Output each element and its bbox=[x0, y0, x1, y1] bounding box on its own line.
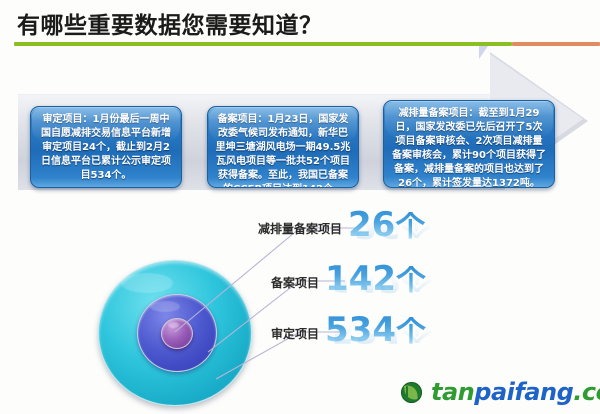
callout-leader-lines bbox=[0, 0, 600, 414]
leaf-circle-icon bbox=[401, 382, 422, 403]
callout-unit-3: 个 bbox=[396, 317, 426, 347]
site-logo[interactable]: tanpaifang.com bbox=[401, 378, 600, 406]
logo-text-tan: tan bbox=[431, 378, 474, 406]
callout-value-1: 26 bbox=[348, 208, 395, 242]
callout-jianpailiang-beian: 减排量备案项目 26 个 26个 bbox=[258, 208, 425, 242]
callout-shending: 审定项目 534 个 534个 bbox=[271, 313, 426, 347]
callout-unit-1: 个 bbox=[395, 212, 425, 242]
logo-wordmark: tanpaifang.com bbox=[431, 378, 600, 406]
logo-text-com: .com bbox=[573, 378, 600, 406]
callout-label-2: 备案项目 bbox=[271, 274, 319, 296]
callout-label-1: 减排量备案项目 bbox=[258, 220, 342, 242]
callout-value-3: 534 bbox=[325, 313, 396, 347]
callout-value-2: 142 bbox=[325, 262, 396, 296]
logo-text-paifang: paifang bbox=[474, 378, 573, 406]
callout-unit-2: 个 bbox=[396, 266, 426, 296]
slide-canvas: 有哪些重要数据您需要知道？ 审定项目：1月份最后一周中国自愿减排交易信息平台新增… bbox=[0, 0, 600, 414]
callout-label-3: 审定项目 bbox=[271, 325, 319, 347]
callout-beian: 备案项目 142 个 142个 bbox=[271, 262, 426, 296]
